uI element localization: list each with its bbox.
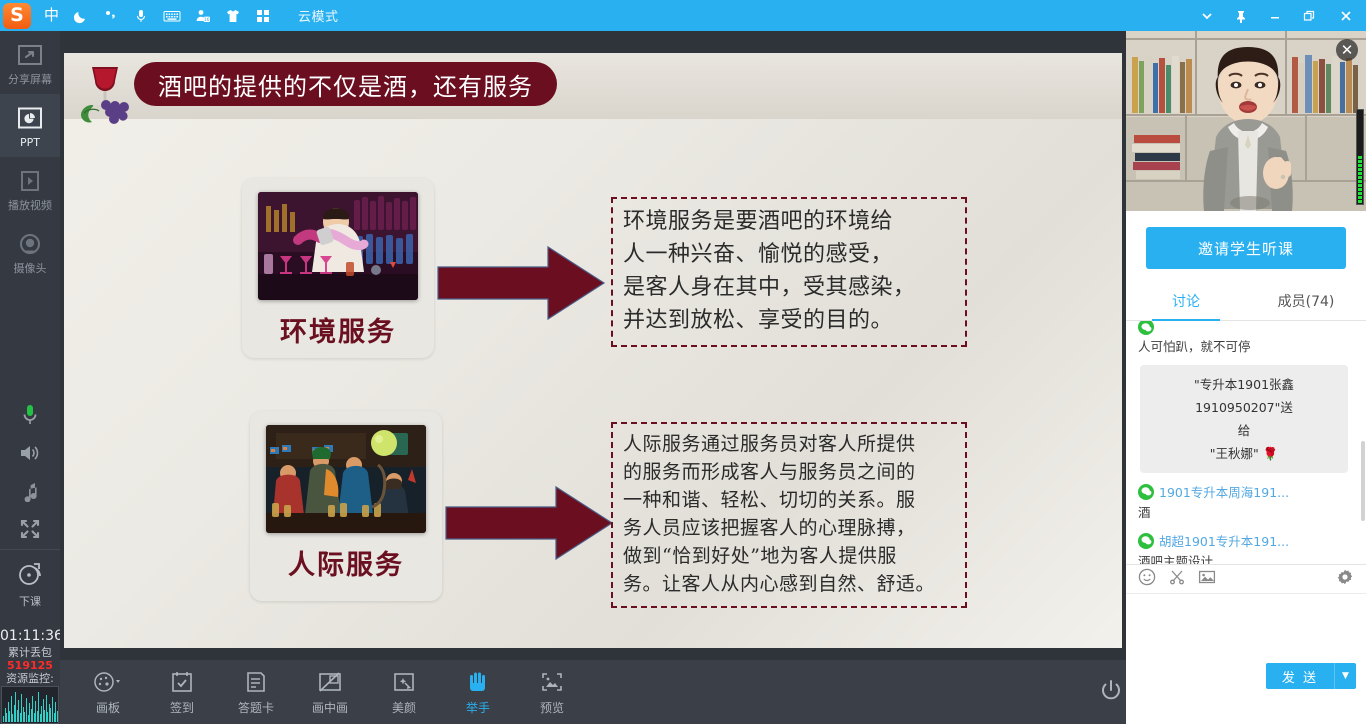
- sidebar-stats: 01:11:36 累计丢包 519125 资源监控:: [0, 627, 60, 724]
- ime-moon-icon[interactable]: [66, 0, 96, 31]
- ime-tshirt-icon[interactable]: [218, 0, 248, 31]
- send-options-chevron-icon[interactable]: ▼: [1334, 663, 1356, 689]
- ime-microphone-icon[interactable]: [126, 0, 156, 31]
- tool-label: 答题卡: [238, 699, 274, 716]
- share-screen-icon: [15, 40, 45, 70]
- microphone-icon[interactable]: [0, 396, 60, 434]
- sidebar-item-camera[interactable]: 摄像头: [0, 220, 60, 283]
- textbox-line: 务人员应该把握客人的心理脉搏，: [623, 514, 955, 542]
- scissors-icon[interactable]: [1168, 568, 1186, 590]
- chat-author-name[interactable]: 1901专升本周海191...: [1159, 482, 1289, 501]
- sidebar-item-label: 分享屏幕: [8, 72, 52, 88]
- teacher-webcam-video[interactable]: ✕: [1126, 31, 1366, 211]
- wechat-avatar-icon: [1138, 533, 1154, 549]
- window-title-bar: S 中 16 云模式: [0, 0, 1366, 31]
- end-class-icon: [15, 559, 45, 589]
- checkin-icon: [170, 668, 194, 696]
- sidebar-item-share-screen[interactable]: 分享屏幕: [0, 31, 60, 94]
- tool-preview[interactable]: 预览: [524, 668, 580, 716]
- panel-tabs: 讨论 成员(74): [1126, 281, 1366, 321]
- end-class-label: 下课: [19, 593, 41, 609]
- picture-in-picture-icon: [317, 668, 343, 696]
- textbox-line: 是客人身在其中，受其感染，: [623, 271, 955, 304]
- left-sidebar: 分享屏幕 PPT 播放视频 摄像头: [0, 31, 60, 724]
- textbox-line: 务。让客人从内心感到自然、舒适。: [623, 570, 955, 598]
- textbox-line: 环境服务是要酒吧的环境给: [623, 205, 955, 238]
- tool-label: 预览: [540, 699, 564, 716]
- resource-monitor-sparkline: [1, 686, 59, 724]
- sidebar-item-label: 播放视频: [8, 198, 52, 214]
- class-timer: 01:11:36: [0, 627, 60, 645]
- tool-label: 签到: [170, 699, 194, 716]
- emoji-icon[interactable]: [1138, 568, 1156, 590]
- slide-card-caption: 环境服务: [280, 310, 396, 349]
- ime-punctuation-icon[interactable]: [96, 0, 126, 31]
- gear-icon[interactable]: [1336, 568, 1354, 590]
- power-icon[interactable]: [1099, 678, 1123, 706]
- tool-answer-card[interactable]: 答题卡: [228, 668, 284, 716]
- presentation-stage: 酒吧的提供的不仅是酒，还有服务: [60, 31, 1126, 724]
- chat-message-text: 酒: [1138, 504, 1356, 522]
- arrow-right-bottom: [444, 483, 614, 567]
- camera-icon: [15, 229, 45, 259]
- raise-hand-icon: [466, 668, 490, 696]
- end-class-button[interactable]: 下课: [0, 559, 60, 609]
- ppt-icon: [15, 103, 45, 133]
- ime-grid-icon[interactable]: [248, 0, 278, 31]
- right-panel: ✕ 邀请学生听课 讨论 成员(74) 人可怕趴，就不可停 "专升本1901张鑫1…: [1126, 31, 1366, 724]
- play-video-icon: [15, 166, 45, 196]
- chat-message-text: 酒吧主题设计: [1138, 553, 1356, 564]
- palette-icon: [93, 668, 123, 696]
- tool-label: 举手: [466, 699, 490, 716]
- tool-whiteboard[interactable]: 画板: [80, 668, 136, 716]
- textbox-line: 做到“恰到好处”地为客人提供服: [623, 542, 955, 570]
- chat-message-author: 胡超1901专升本191...: [1138, 531, 1356, 550]
- textbox-environment: 环境服务是要酒吧的环境给 人一种兴奋、愉悦的感受， 是客人身在其中，受其感染， …: [611, 197, 967, 347]
- slide-card-caption: 人际服务: [288, 543, 404, 582]
- packet-loss-value: 519125: [0, 659, 60, 672]
- tool-label: 画板: [96, 699, 120, 716]
- speaker-icon[interactable]: [0, 434, 60, 472]
- image-icon[interactable]: [1198, 568, 1216, 590]
- chat-message-author: [1138, 321, 1356, 335]
- send-button[interactable]: 发 送: [1266, 663, 1334, 689]
- beauty-filter-icon: [392, 668, 416, 696]
- close-icon[interactable]: [1326, 0, 1366, 31]
- tab-discussion[interactable]: 讨论: [1126, 281, 1246, 320]
- textbox-interpersonal: 人际服务通过服务员对客人所提供 的服务而形成客人与服务员之间的 一种和谐、轻松、…: [611, 422, 967, 608]
- resource-monitor-label: 资源监控:: [0, 672, 60, 685]
- invite-students-button[interactable]: 邀请学生听课: [1146, 227, 1346, 269]
- gift-line: "专升本1901张鑫1910950207"送: [1150, 373, 1338, 419]
- bartender-photo: [258, 192, 418, 300]
- slide-card-environment[interactable]: 环境服务: [242, 178, 434, 358]
- chat-author-name[interactable]: 胡超1901专升本191...: [1159, 531, 1289, 550]
- sidebar-item-ppt[interactable]: PPT: [0, 94, 60, 157]
- ime-user-icon[interactable]: 16: [188, 0, 218, 31]
- tool-beauty-filter[interactable]: 美颜: [376, 668, 432, 716]
- tool-checkin[interactable]: 签到: [154, 668, 210, 716]
- textbox-line: 并达到放松、享受的目的。: [623, 304, 955, 337]
- textbox-line: 一种和谐、轻松、切切的关系。服: [623, 486, 955, 514]
- window-controls: [1190, 0, 1366, 31]
- arrow-right-top: [436, 243, 606, 327]
- slide-title: 酒吧的提供的不仅是酒，还有服务: [134, 62, 557, 106]
- cloud-mode-label: 云模式: [298, 6, 339, 25]
- sogou-logo-icon[interactable]: S: [3, 3, 31, 29]
- gift-line: "王秋娜" 🌹: [1150, 442, 1338, 465]
- bar-guests-photo: [266, 425, 426, 533]
- tool-label: 美颜: [392, 699, 416, 716]
- chat-message-list[interactable]: 人可怕趴，就不可停 "专升本1901张鑫1910950207"送 给 "王秋娜"…: [1126, 321, 1366, 564]
- preview-icon: [539, 668, 565, 696]
- gift-line: 给: [1150, 419, 1338, 442]
- wechat-avatar-icon: [1138, 321, 1154, 335]
- restore-icon[interactable]: [1292, 0, 1326, 31]
- ime-lang-chinese[interactable]: 中: [37, 0, 66, 31]
- ppt-slide[interactable]: 酒吧的提供的不仅是酒，还有服务: [64, 53, 1122, 648]
- tool-raise-hand[interactable]: 举手: [450, 668, 506, 716]
- sidebar-item-label: PPT: [20, 135, 40, 151]
- chat-message-text: 人可怕趴，就不可停: [1138, 338, 1356, 356]
- wine-grapes-decoration-icon: [76, 61, 140, 133]
- textbox-line: 人际服务通过服务员对客人所提供: [623, 430, 955, 458]
- chat-message-author: 1901专升本周海191...: [1138, 482, 1356, 501]
- textbox-line: 人一种兴奋、愉悦的感受，: [623, 238, 955, 271]
- svg-text:16: 16: [204, 16, 210, 22]
- message-compose-area[interactable]: 发 送 ▼: [1126, 594, 1366, 698]
- sidebar-item-play-video[interactable]: 播放视频: [0, 157, 60, 220]
- fullscreen-icon[interactable]: [0, 510, 60, 548]
- packet-loss-label: 累计丢包: [0, 646, 60, 659]
- chat-scrollbar[interactable]: [1361, 441, 1365, 521]
- ime-toolbar: S 中 16: [0, 0, 284, 31]
- pin-icon[interactable]: [1224, 0, 1258, 31]
- compose-toolbar: [1126, 564, 1366, 594]
- wechat-avatar-icon: [1138, 484, 1154, 500]
- answer-card-icon: [244, 668, 268, 696]
- chevron-down-icon[interactable]: [1190, 0, 1224, 31]
- audio-level-meter: [1356, 109, 1364, 205]
- textbox-line: 的服务而形成客人与服务员之间的: [623, 458, 955, 486]
- minimize-icon[interactable]: [1258, 0, 1292, 31]
- ime-keyboard-icon[interactable]: [156, 0, 188, 31]
- send-controls: 发 送 ▼: [1266, 663, 1356, 689]
- invite-section: 邀请学生听课: [1126, 211, 1366, 281]
- gift-message-bubble: "专升本1901张鑫1910950207"送 给 "王秋娜" 🌹: [1140, 365, 1348, 473]
- slide-card-interpersonal[interactable]: 人际服务: [250, 411, 442, 601]
- music-icon[interactable]: [0, 472, 60, 510]
- sidebar-divider: [0, 549, 60, 550]
- tool-label: 画中画: [312, 699, 348, 716]
- sidebar-item-label: 摄像头: [14, 261, 47, 277]
- sidebar-media-controls: [0, 396, 60, 548]
- close-icon[interactable]: ✕: [1336, 39, 1358, 61]
- tool-picture-in-picture[interactable]: 画中画: [302, 668, 358, 716]
- tab-members[interactable]: 成员(74): [1246, 281, 1366, 320]
